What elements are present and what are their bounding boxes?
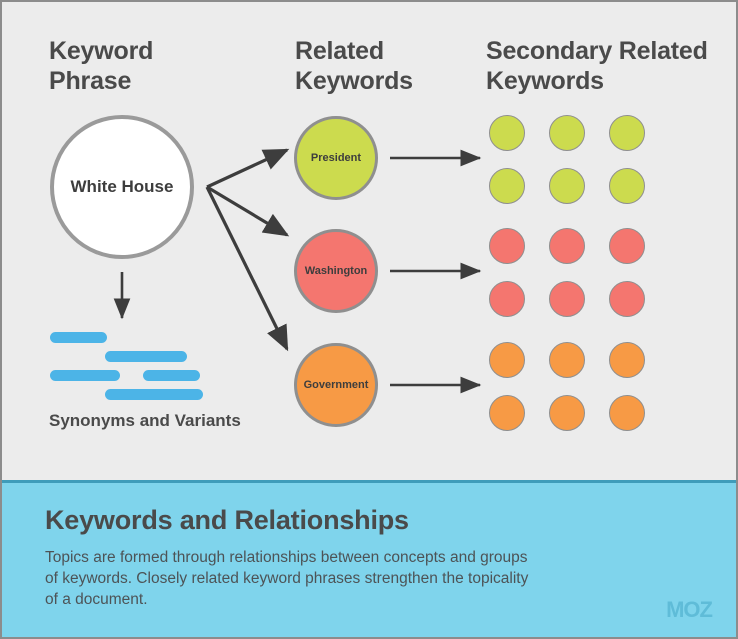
secondary-keyword-dot [489,342,525,378]
secondary-keyword-grid-washington [489,228,645,317]
secondary-keyword-dot [549,168,585,204]
arrow [207,187,287,349]
secondary-keyword-dot [489,395,525,431]
secondary-keyword-dot [549,115,585,151]
secondary-keyword-dot [609,342,645,378]
secondary-keyword-dot [549,228,585,264]
secondary-keyword-dot [549,281,585,317]
related-keyword-label: Government [304,379,369,391]
related-keyword-node-government: Government [294,343,378,427]
synonym-bar [50,370,120,381]
synonyms-label: Synonyms and Variants [49,411,241,431]
related-keyword-label: Washington [305,265,368,277]
synonym-bar [105,389,203,400]
secondary-keyword-dot [549,395,585,431]
secondary-keyword-dot [609,281,645,317]
keyword-phrase-label: White House [71,177,174,197]
secondary-keyword-dot [489,168,525,204]
column-heading-keyword-phrase: Keyword Phrase [49,36,153,96]
secondary-keyword-dot [609,115,645,151]
secondary-keyword-dot [609,228,645,264]
caption-title: Keywords and Relationships [45,505,409,536]
infographic-root: Keyword Phrase Related Keywords Secondar… [0,0,738,639]
caption-band: Keywords and Relationships Topics are fo… [2,480,736,637]
secondary-keyword-grid-president [489,115,645,204]
secondary-keyword-dot [489,115,525,151]
diagram-area: Keyword Phrase Related Keywords Secondar… [2,2,736,480]
arrow [207,187,287,235]
caption-body: Topics are formed through relationships … [45,547,535,610]
secondary-keyword-dot [609,168,645,204]
related-keyword-label: President [311,152,361,164]
synonym-bar [143,370,200,381]
synonym-bar [105,351,187,362]
related-keyword-node-washington: Washington [294,229,378,313]
column-heading-secondary-related-keywords: Secondary Related Keywords [486,36,708,96]
related-keyword-node-president: President [294,116,378,200]
synonym-bar [50,332,107,343]
secondary-keyword-dot [489,228,525,264]
secondary-keyword-dot [609,395,645,431]
moz-logo: MOZ [666,597,712,623]
secondary-keyword-dot [549,342,585,378]
secondary-keyword-grid-government [489,342,645,431]
column-heading-related-keywords: Related Keywords [295,36,413,96]
arrow [207,150,287,187]
keyword-phrase-node: White House [50,115,194,259]
secondary-keyword-dot [489,281,525,317]
